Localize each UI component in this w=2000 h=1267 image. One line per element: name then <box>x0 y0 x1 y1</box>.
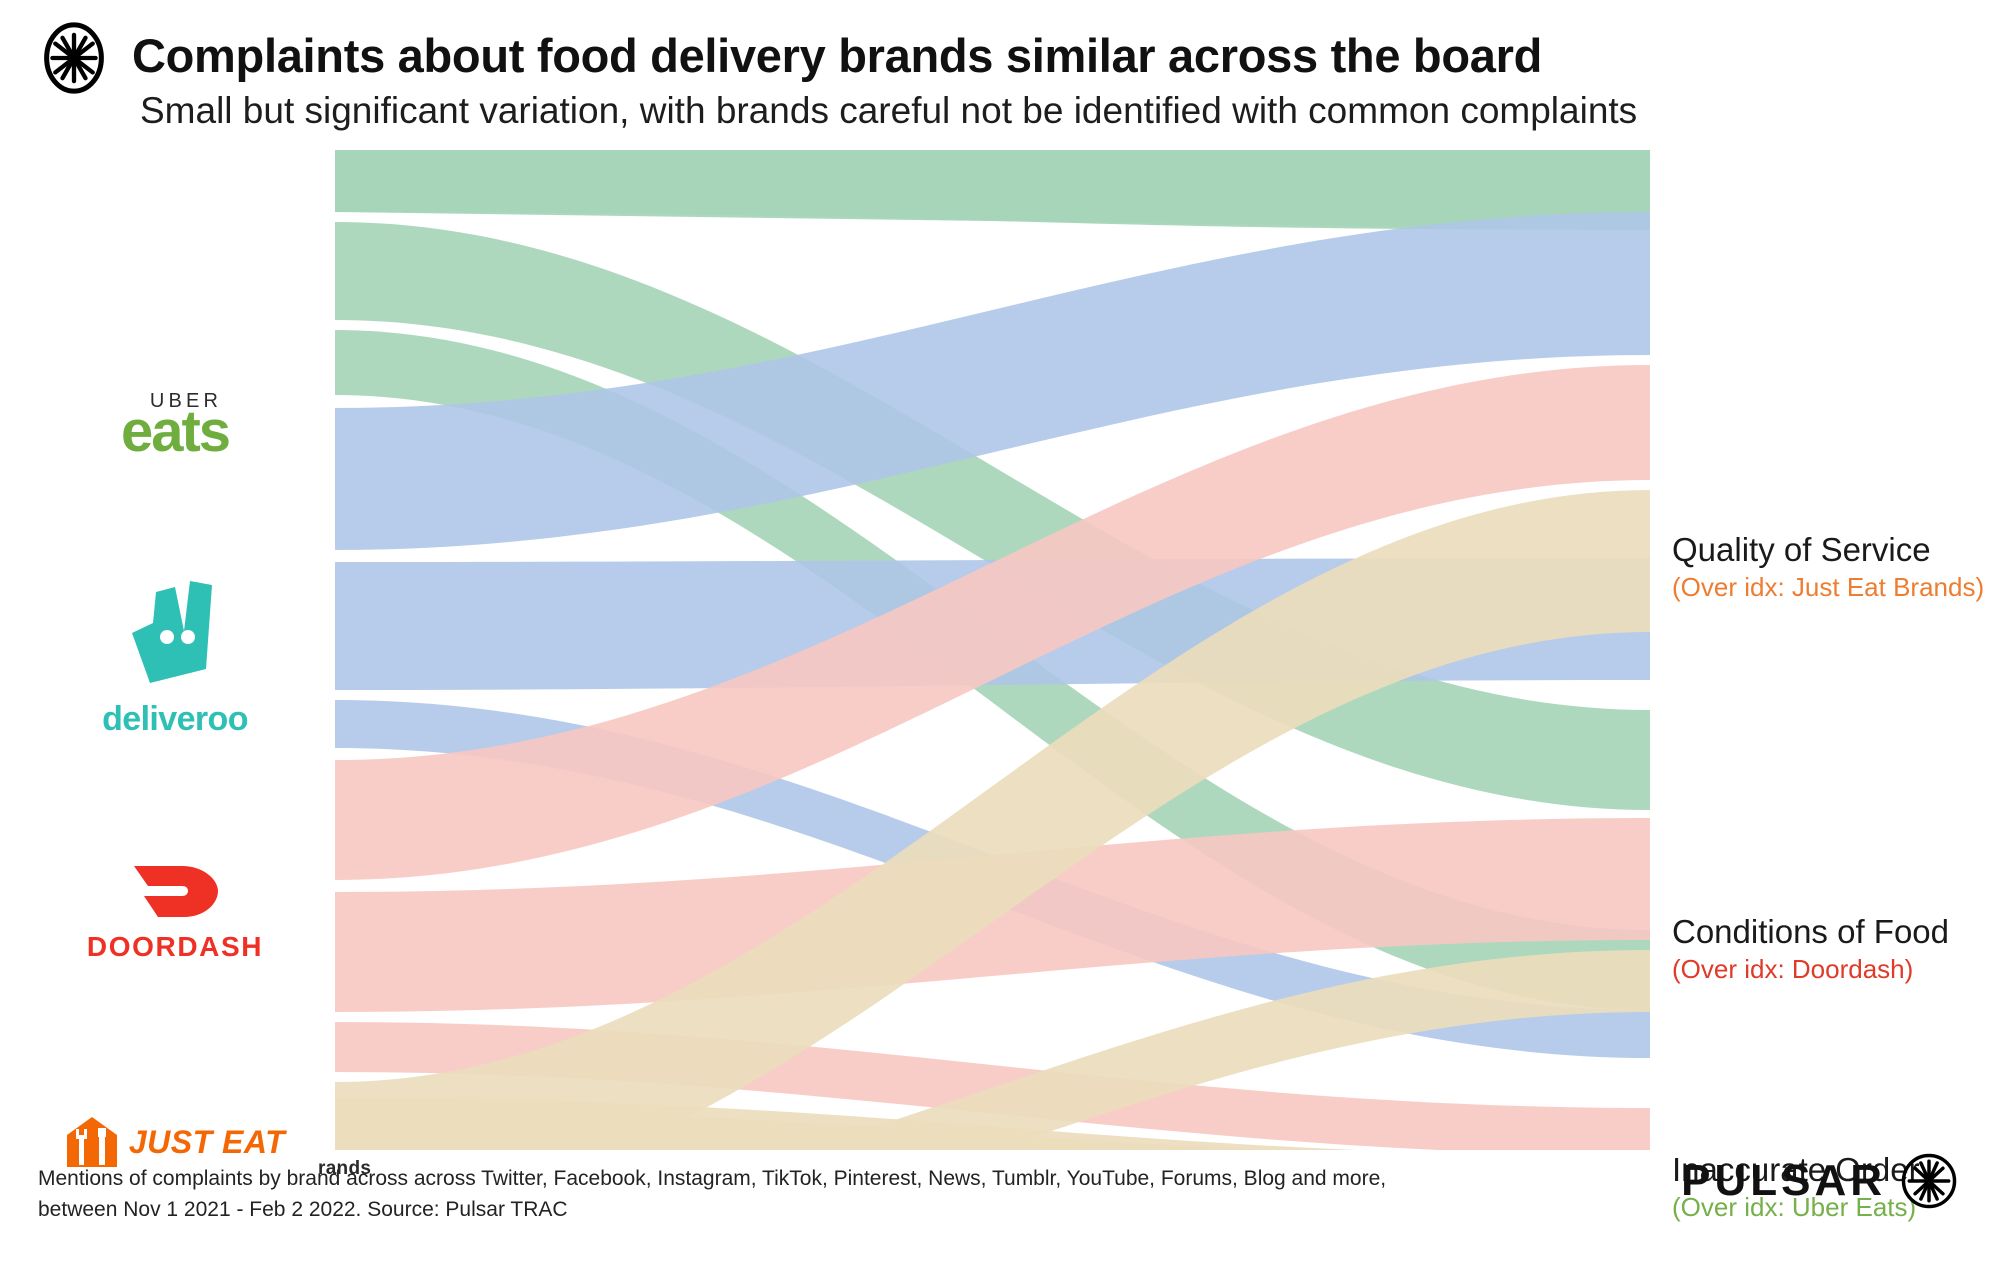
brand-logo-doordash[interactable]: DOORDASH <box>45 860 305 963</box>
target-label-conditions[interactable]: Conditions of Food (Over idx: Doordash) <box>1672 912 2000 986</box>
page-header: Complaints about food delivery brands si… <box>0 0 2000 150</box>
deliveroo-wordmark: deliveroo <box>45 700 305 739</box>
brand-logo-deliveroo[interactable]: deliveroo <box>45 575 305 739</box>
footnote: Mentions of complaints by brand across a… <box>38 1163 1458 1225</box>
pulsar-logo: PULSAR <box>1681 1152 1958 1210</box>
doordash-wordmark: DOORDASH <box>45 931 305 963</box>
page-title: Complaints about food delivery brands si… <box>132 28 1542 83</box>
page-subtitle: Small but significant variation, with br… <box>140 90 1637 132</box>
target-conditions-overindex: (Over idx: Doordash) <box>1672 952 2000 986</box>
pulsar-wordmark: PULSAR <box>1681 1156 1886 1206</box>
target-label-quality[interactable]: Quality of Service (Over idx: Just Eat B… <box>1672 530 2000 604</box>
justeat-house-cutlery-icon <box>65 1115 119 1169</box>
sankey-chart: rands UBER eats deliveroo DOORDASH <box>0 150 2000 1150</box>
justeat-wordmark: JUST EAT <box>129 1124 285 1161</box>
target-quality-title: Quality of Service <box>1672 530 2000 570</box>
brand-logo-justeat[interactable]: JUST EAT <box>45 1115 305 1169</box>
deliveroo-kangaroo-icon <box>120 575 230 693</box>
pulsar-asterisk-icon <box>1900 1152 1958 1210</box>
pulsar-asterisk-icon <box>38 22 110 94</box>
target-conditions-title: Conditions of Food <box>1672 912 2000 952</box>
brand-logo-ubereats[interactable]: UBER eats <box>45 390 305 461</box>
target-quality-overindex: (Over idx: Just Eat Brands) <box>1672 570 2000 604</box>
footnote-line-1: Mentions of complaints by brand across a… <box>38 1163 1458 1194</box>
doordash-dash-icon <box>130 860 220 922</box>
footnote-line-2: between Nov 1 2021 - Feb 2 2022. Source:… <box>38 1194 1458 1225</box>
ubereats-wordmark-bottom: eats <box>45 403 305 461</box>
